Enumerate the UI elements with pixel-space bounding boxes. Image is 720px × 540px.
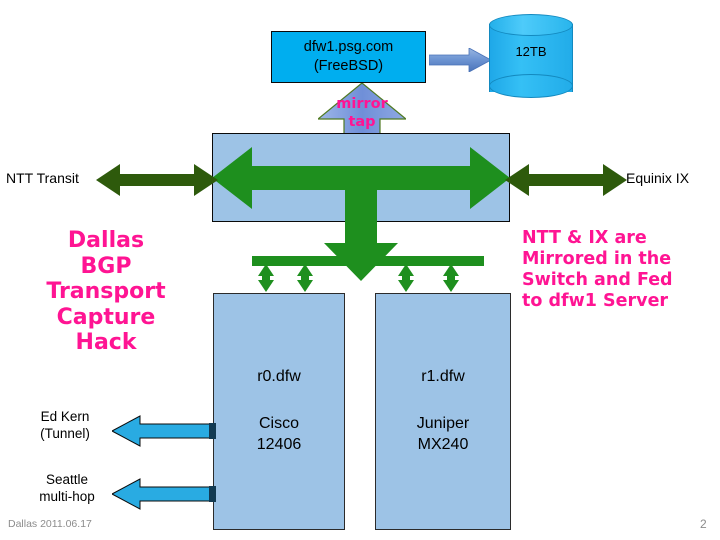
hack-title-line-2: Transport <box>8 279 204 305</box>
footer-date: Dallas 2011.06.17 <box>8 518 92 530</box>
router-0-vendor: Cisco <box>259 414 299 435</box>
router-box-r1[interactable]: r1.dfw Juniper MX240 <box>375 293 511 530</box>
ed-kern-label: Ed Kern (Tunnel) <box>20 409 110 443</box>
router-1-name: r1.dfw <box>421 367 465 388</box>
hack-title-line-0: Dallas <box>8 228 204 254</box>
slide-canvas: dfw1.psg.com (FreeBSD) 12TB <box>0 0 720 540</box>
cylinder-top <box>489 14 573 36</box>
mirror-note-line-0: NTT & IX are <box>522 228 720 249</box>
storage-cylinder[interactable]: 12TB <box>489 14 573 98</box>
seattle-uplink-arrow <box>112 478 216 510</box>
hack-title-line-3: Capture <box>8 305 204 331</box>
router-0-name: r0.dfw <box>257 367 301 388</box>
cylinder-bottom <box>489 74 573 98</box>
ed-kern-line1: Ed Kern <box>20 409 110 426</box>
mirror-note-line-2: Switch and Fed <box>522 270 720 291</box>
ntt-transit-label: NTT Transit <box>6 170 79 186</box>
router-1-vendor: Juniper <box>417 414 469 435</box>
hack-title-line-1: BGP <box>8 254 204 280</box>
server-hostname: dfw1.psg.com <box>304 38 393 57</box>
seattle-line1: Seattle <box>20 472 114 489</box>
server-os: (FreeBSD) <box>314 57 383 76</box>
hack-title: Dallas BGP Transport Capture Hack <box>8 228 204 356</box>
seattle-label: Seattle multi-hop <box>20 472 114 506</box>
storage-capacity-label: 12TB <box>489 44 573 59</box>
mirror-note-line-3: to dfw1 Server <box>522 291 720 312</box>
ntt-transit-arrow <box>96 162 218 198</box>
ed-kern-line2: (Tunnel) <box>20 426 110 443</box>
server-box[interactable]: dfw1.psg.com (FreeBSD) <box>271 31 426 83</box>
equinix-ix-arrow <box>505 162 627 198</box>
mirror-note: NTT & IX are Mirrored in the Switch and … <box>522 228 720 312</box>
equinix-ix-label: Equinix IX <box>626 170 689 186</box>
mirror-note-line-1: Mirrored in the <box>522 249 720 270</box>
hack-title-line-4: Hack <box>8 330 204 356</box>
seattle-line2: multi-hop <box>20 489 114 506</box>
server-to-storage-arrow <box>429 48 491 72</box>
ed-kern-uplink-arrow <box>112 415 216 447</box>
router-1-model: MX240 <box>418 435 469 456</box>
router-box-r0[interactable]: r0.dfw Cisco 12406 <box>213 293 345 530</box>
router-bus-bar <box>252 256 484 292</box>
router-0-model: 12406 <box>257 435 302 456</box>
page-number: 2 <box>700 517 707 531</box>
